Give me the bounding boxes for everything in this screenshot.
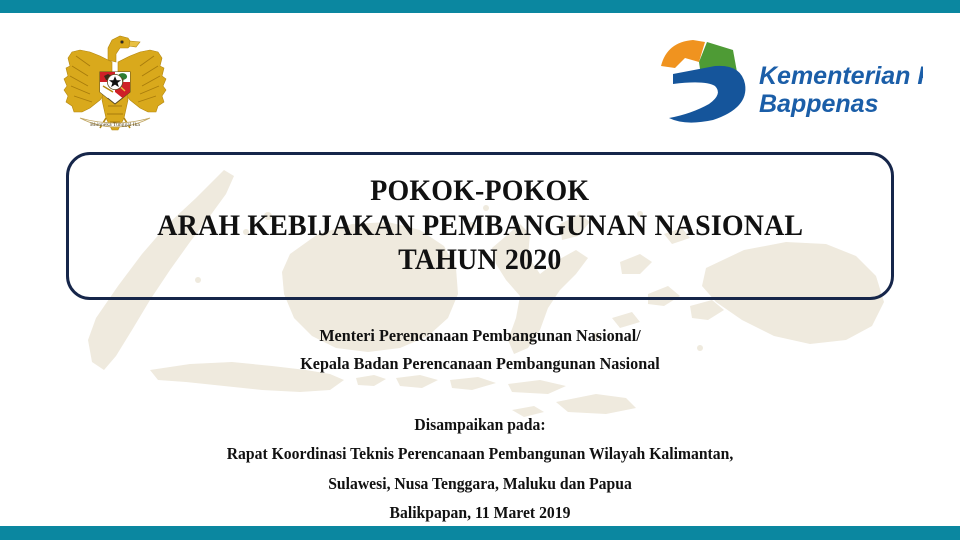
event-line-1: Rapat Koordinasi Teknis Perencanaan Pemb… [24, 439, 936, 468]
logo-line2: Bappenas [759, 90, 879, 118]
garuda-pancasila-emblem: Bhinneka Tunggal Ika [56, 26, 174, 138]
presentation-title-slide: Bhinneka Tunggal Ika Kementerian PPN/ Ba… [0, 0, 960, 540]
speaker-block: Menteri Perencanaan Pembangunan Nasional… [0, 322, 960, 377]
speaker-line-1: Menteri Perencanaan Pembangunan Nasional… [24, 322, 936, 350]
event-block: Disampaikan pada: Rapat Koordinasi Tekni… [0, 410, 960, 527]
title-line-2: ARAH KEBIJAKAN PEMBANGUNAN NASIONAL [157, 209, 803, 244]
logo-orange-arc [661, 40, 705, 68]
svg-text:Bhinneka Tunggal Ika: Bhinneka Tunggal Ika [90, 122, 140, 128]
title-line-3: TAHUN 2020 [398, 243, 561, 278]
event-label: Disampaikan pada: [24, 410, 936, 439]
event-line-2: Sulawesi, Nusa Tenggara, Maluku dan Papu… [24, 469, 936, 498]
top-accent-bar [0, 0, 960, 13]
logo-line1: Kementerian PPN/ [759, 62, 923, 90]
logo-blue-swoosh [669, 66, 745, 123]
title-line-1: POKOK-POKOK [370, 174, 589, 209]
kementerian-ppn-bappenas-logo: Kementerian PPN/ Bappenas [655, 32, 923, 128]
title-box: POKOK-POKOK ARAH KEBIJAKAN PEMBANGUNAN N… [66, 152, 894, 300]
speaker-line-2: Kepala Badan Perencanaan Pembangunan Nas… [24, 350, 936, 378]
bottom-accent-bar [0, 526, 960, 540]
event-line-3: Balikpapan, 11 Maret 2019 [24, 498, 936, 527]
